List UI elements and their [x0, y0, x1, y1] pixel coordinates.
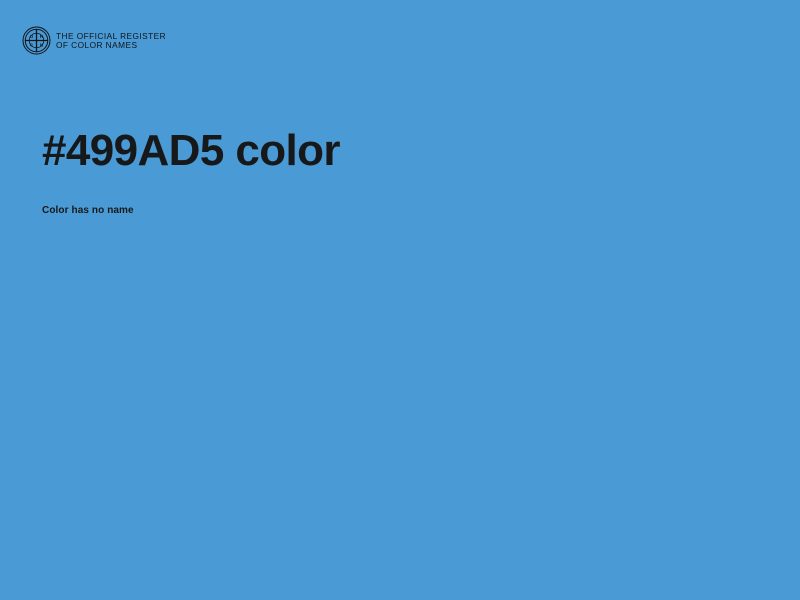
- brand-wordmark: THE OFFICIAL REGISTER OF COLOR NAMES: [56, 31, 166, 51]
- brand-line-2: OF COLOR NAMES: [56, 41, 166, 51]
- color-info-block: #499AD5 color Color has no name: [42, 126, 742, 216]
- color-page: O R C N THE OFFICIAL REGISTER OF COLOR N…: [0, 0, 800, 600]
- register-seal-icon: O R C N: [22, 26, 51, 55]
- page-title: #499AD5 color: [42, 126, 742, 176]
- site-brand[interactable]: O R C N THE OFFICIAL REGISTER OF COLOR N…: [22, 26, 166, 55]
- color-name-status: Color has no name: [42, 176, 742, 216]
